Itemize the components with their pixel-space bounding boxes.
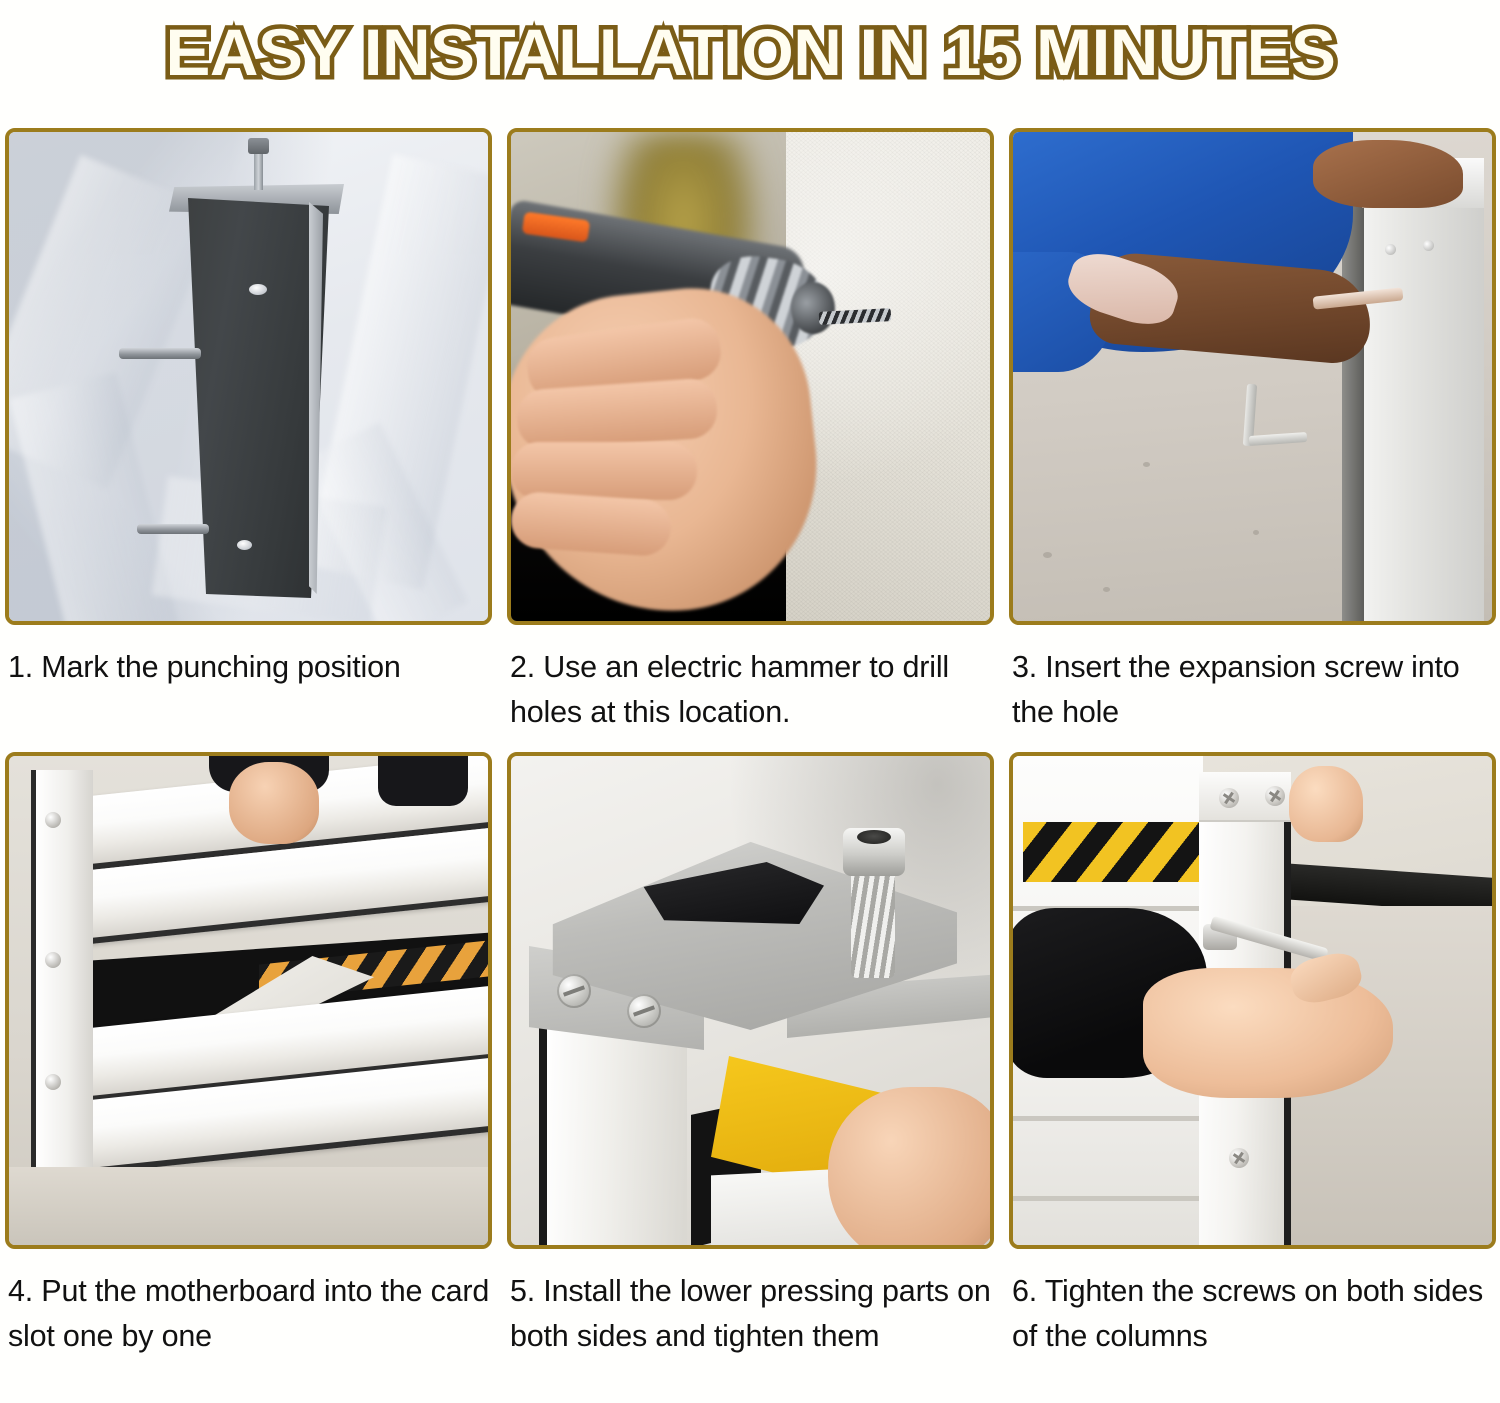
installation-steps-grid: 1. Mark the punching position	[0, 128, 1500, 1358]
photo-frame-4	[5, 752, 492, 1249]
floor-speck	[1253, 530, 1259, 535]
photo-mark-punching-position	[9, 132, 488, 621]
worker-second-hand	[1313, 140, 1463, 208]
board-seam	[1013, 1116, 1203, 1121]
step-caption-3: 3. Insert the expansion screw into the h…	[1009, 645, 1496, 734]
column-screw	[45, 1074, 61, 1090]
column-screw	[1385, 244, 1396, 255]
step-caption-5: 5. Install the lower pressing parts on b…	[507, 1269, 994, 1358]
header-banner: EASY INSTALLATION IN 15 MINUTES	[0, 0, 1500, 100]
steps-row-top: 1. Mark the punching position	[0, 128, 1500, 734]
floor-speck	[1143, 462, 1150, 467]
expansion-rod-lower	[137, 524, 209, 534]
floor-speck	[1103, 587, 1110, 592]
installer-hand	[229, 762, 319, 844]
step-caption-4: 4. Put the motherboard into the card slo…	[5, 1269, 492, 1358]
column-screw	[45, 952, 61, 968]
dark-sleeve	[378, 756, 468, 806]
bracket-screw	[557, 974, 591, 1008]
top-bolt-head	[248, 138, 269, 154]
floor-speck	[1043, 552, 1052, 558]
step-card-5: 5. Install the lower pressing parts on b…	[507, 752, 994, 1358]
finger	[511, 442, 697, 500]
steps-row-bottom: 4. Put the motherboard into the card slo…	[0, 752, 1500, 1358]
photo-tighten-column-screws	[1013, 756, 1492, 1245]
photo-insert-expansion-screw	[1013, 132, 1492, 621]
column-screw	[1219, 788, 1239, 808]
bracket-screw	[627, 994, 661, 1028]
installer-second-hand	[1289, 766, 1363, 842]
photo-frame-6	[1009, 752, 1496, 1249]
page-title: EASY INSTALLATION IN 15 MINUTES	[165, 19, 1335, 85]
photo-frame-3	[1009, 128, 1496, 625]
installer-hand	[828, 1087, 990, 1245]
floor-strip	[9, 1167, 488, 1245]
photo-insert-boards-card-slot	[9, 756, 488, 1245]
bolt-socket-hole	[857, 830, 891, 844]
board-seam	[1013, 1196, 1203, 1201]
photo-frame-1	[5, 128, 492, 625]
column-screw	[45, 812, 61, 828]
column-screw	[1229, 1148, 1249, 1168]
slot-column	[31, 770, 93, 1190]
step-card-6: 6. Tighten the screws on both sides of t…	[1009, 752, 1496, 1358]
step-card-3: 3. Insert the expansion screw into the h…	[1009, 128, 1496, 734]
finger	[511, 490, 673, 557]
step-card-1: 1. Mark the punching position	[5, 128, 492, 734]
white-column	[1364, 162, 1484, 621]
step-card-2: 2. Use an electric hammer to drill holes…	[507, 128, 994, 734]
mounting-hole-lower	[237, 540, 252, 550]
hazard-stripe-tape	[1023, 822, 1203, 882]
mounting-hole-upper	[249, 284, 267, 295]
step-caption-2: 2. Use an electric hammer to drill holes…	[507, 645, 994, 734]
column-screw	[1265, 786, 1285, 806]
threaded-bolt-shaft	[851, 866, 895, 978]
drill-chuck-tip	[791, 282, 835, 334]
column-dark-edge	[539, 1006, 547, 1245]
photo-frame-5	[507, 752, 994, 1249]
textured-wall	[786, 132, 990, 621]
expansion-rod-upper	[119, 348, 201, 359]
photo-frame-2	[507, 128, 994, 625]
photo-install-lower-pressing-parts	[511, 756, 990, 1245]
photo-drill-holes	[511, 132, 990, 621]
step-caption-6: 6. Tighten the screws on both sides of t…	[1009, 1269, 1496, 1358]
step-caption-1: 1. Mark the punching position	[5, 645, 492, 690]
column-screw	[1423, 240, 1434, 251]
step-card-4: 4. Put the motherboard into the card slo…	[5, 752, 492, 1358]
